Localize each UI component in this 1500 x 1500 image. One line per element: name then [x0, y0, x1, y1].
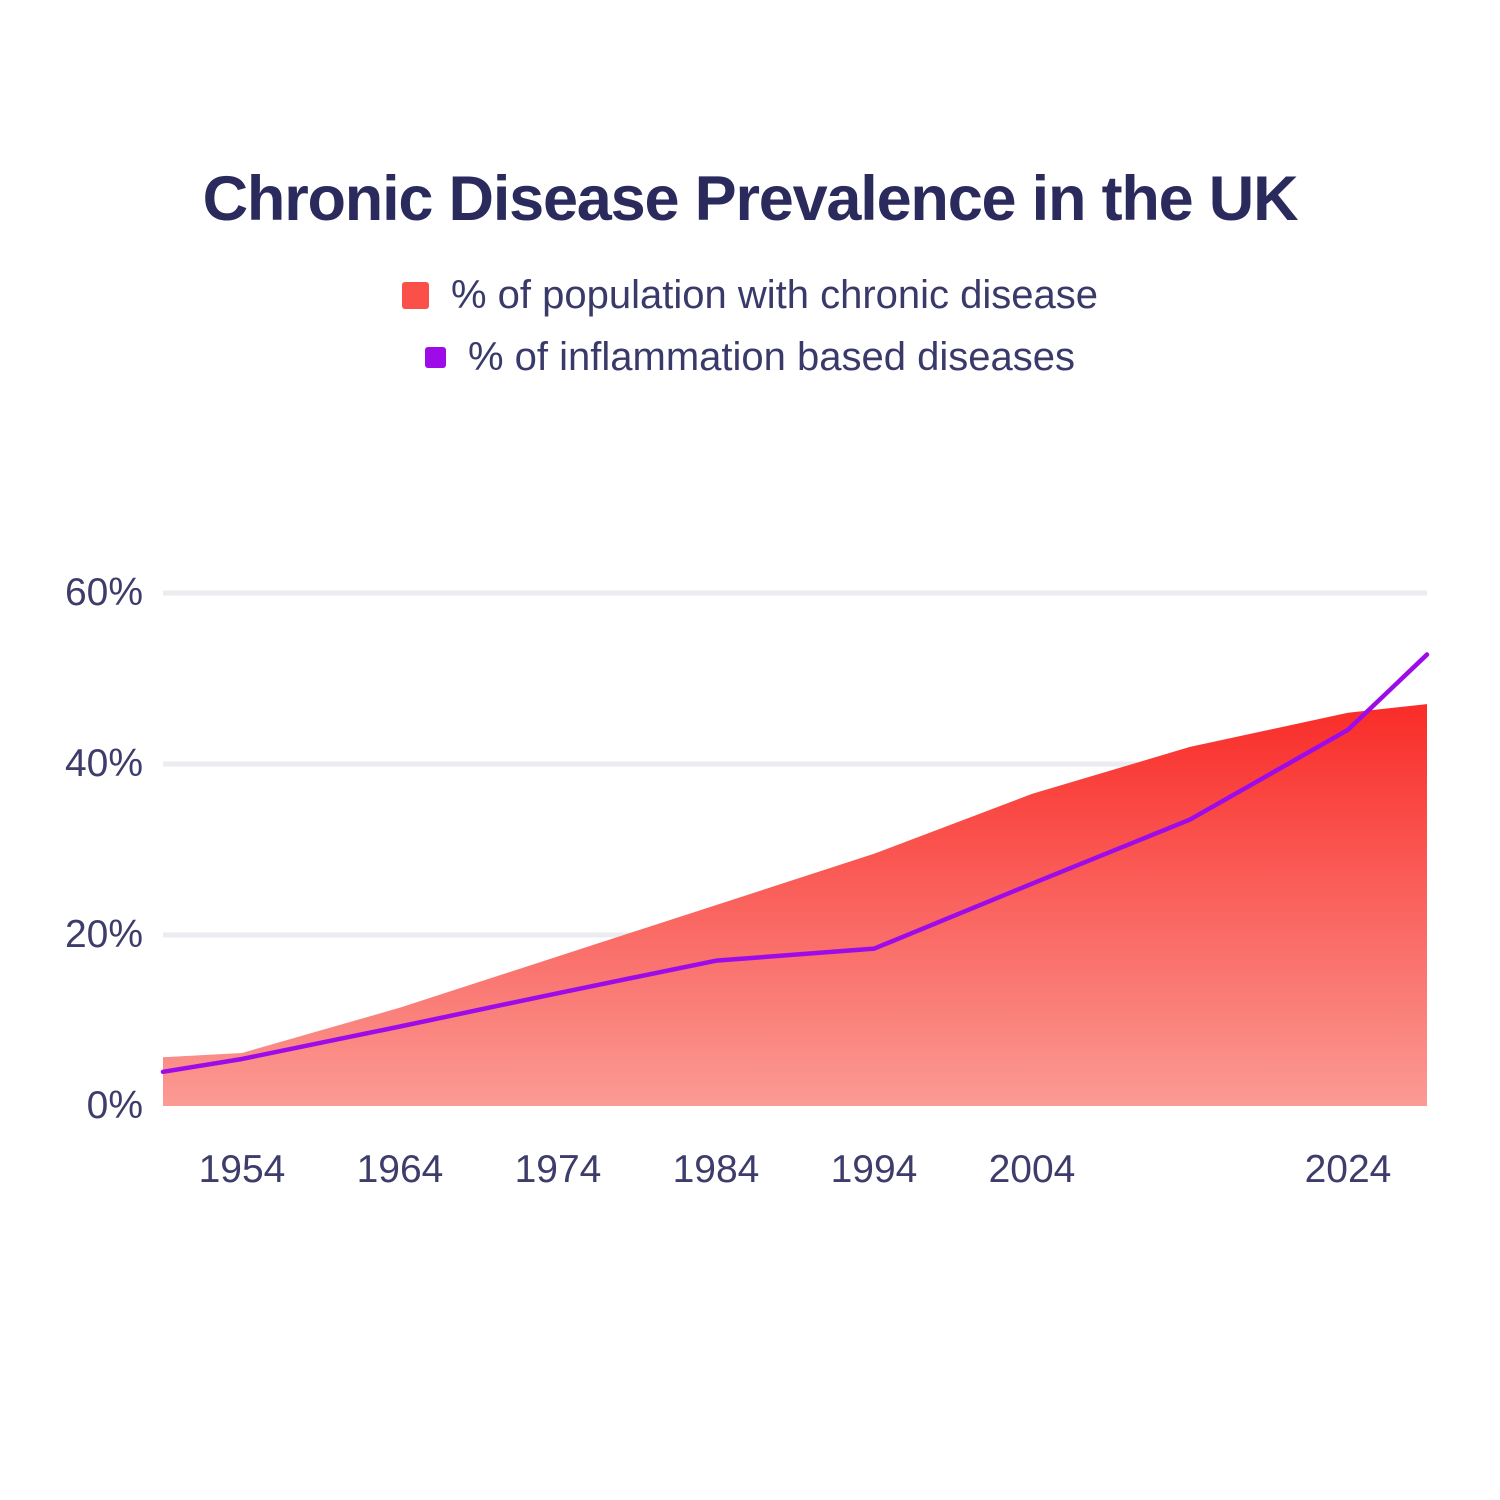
y-axis-tick-label: 40% [13, 742, 143, 786]
plot-area: 0%20%40%60% 1954196419741984199420042024 [0, 0, 1500, 1500]
y-axis-tick-label: 0% [13, 1084, 143, 1128]
y-axis-tick-label: 60% [13, 571, 143, 615]
y-axis-tick-label: 20% [13, 913, 143, 957]
x-axis-tick-label: 2024 [1248, 1148, 1448, 1192]
x-axis-tick-label: 2004 [932, 1148, 1132, 1192]
chart-container: Chronic Disease Prevalence in the UK % o… [0, 0, 1500, 1500]
chart-svg [0, 0, 1500, 1500]
